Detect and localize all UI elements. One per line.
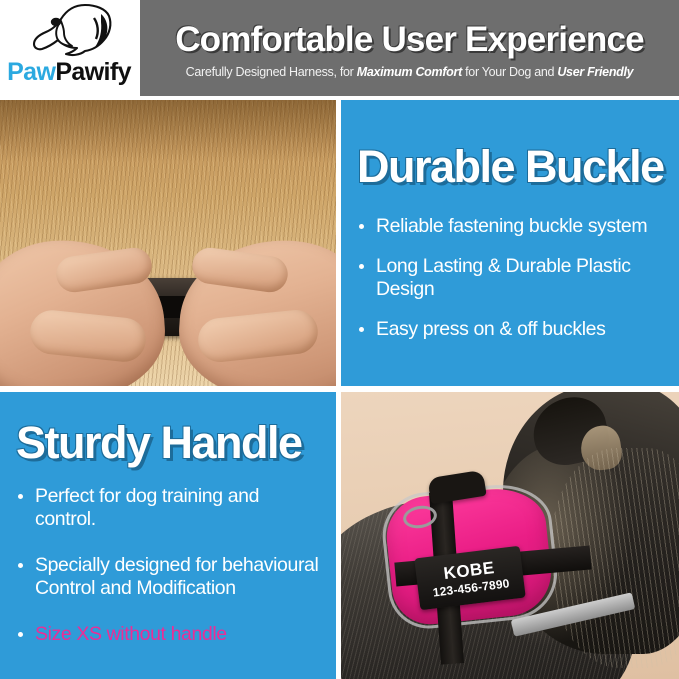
list-item: Long Lasting & Durable Plastic Design: [357, 255, 663, 301]
subtitle-part-2: for Your Dog and: [462, 65, 557, 79]
wordmark-pawify: Pawify: [55, 58, 131, 86]
sturdy-handle-bullet-list: Perfect for dog training and control. Sp…: [16, 485, 320, 646]
durable-buckle-panel: Durable Buckle Reliable fastening buckle…: [341, 100, 679, 386]
sturdy-handle-panel: Sturdy Handle Perfect for dog training a…: [0, 392, 336, 679]
list-item: Reliable fastening buckle system: [357, 215, 663, 238]
durable-buckle-title: Durable Buckle: [357, 100, 663, 189]
header-text-bar: Comfortable User Experience Carefully De…: [140, 0, 679, 96]
product-infographic: PawPawify Comfortable User Experience Ca…: [0, 0, 679, 679]
list-item: Easy press on & off buckles: [357, 318, 663, 341]
list-item: Specially designed for behavioural Contr…: [16, 554, 320, 600]
sturdy-handle-title: Sturdy Handle: [16, 392, 320, 465]
header-banner: PawPawify Comfortable User Experience Ca…: [0, 0, 679, 96]
brand-wordmark: PawPawify: [4, 58, 134, 87]
wordmark-paw: Paw: [7, 58, 55, 86]
list-item: Perfect for dog training and control.: [16, 485, 320, 531]
brand-logo-block: PawPawify: [0, 0, 134, 96]
list-item-size-note: Size XS without handle: [16, 623, 320, 646]
durable-buckle-bullet-list: Reliable fastening buckle system Long La…: [357, 215, 663, 341]
dog-buckle-photo: [0, 100, 336, 386]
fur-top-shadow: [0, 100, 336, 162]
dog-head-logo-icon: [22, 2, 122, 60]
page-title: Comfortable User Experience: [175, 22, 644, 57]
subtitle-emphasis-2: User Friendly: [557, 65, 633, 79]
pink-harness-photo: KOBE 123-456-7890: [341, 392, 679, 679]
buckle-photo-scene: [0, 100, 336, 386]
page-subtitle: Carefully Designed Harness, for Maximum …: [186, 66, 634, 79]
subtitle-part-1: Carefully Designed Harness, for: [186, 65, 357, 79]
durable-buckle-content: Durable Buckle Reliable fastening buckle…: [341, 100, 679, 386]
subtitle-emphasis-1: Maximum Comfort: [357, 65, 462, 79]
sturdy-handle-content: Sturdy Handle Perfect for dog training a…: [0, 392, 336, 679]
harness-photo-scene: KOBE 123-456-7890: [341, 392, 679, 679]
